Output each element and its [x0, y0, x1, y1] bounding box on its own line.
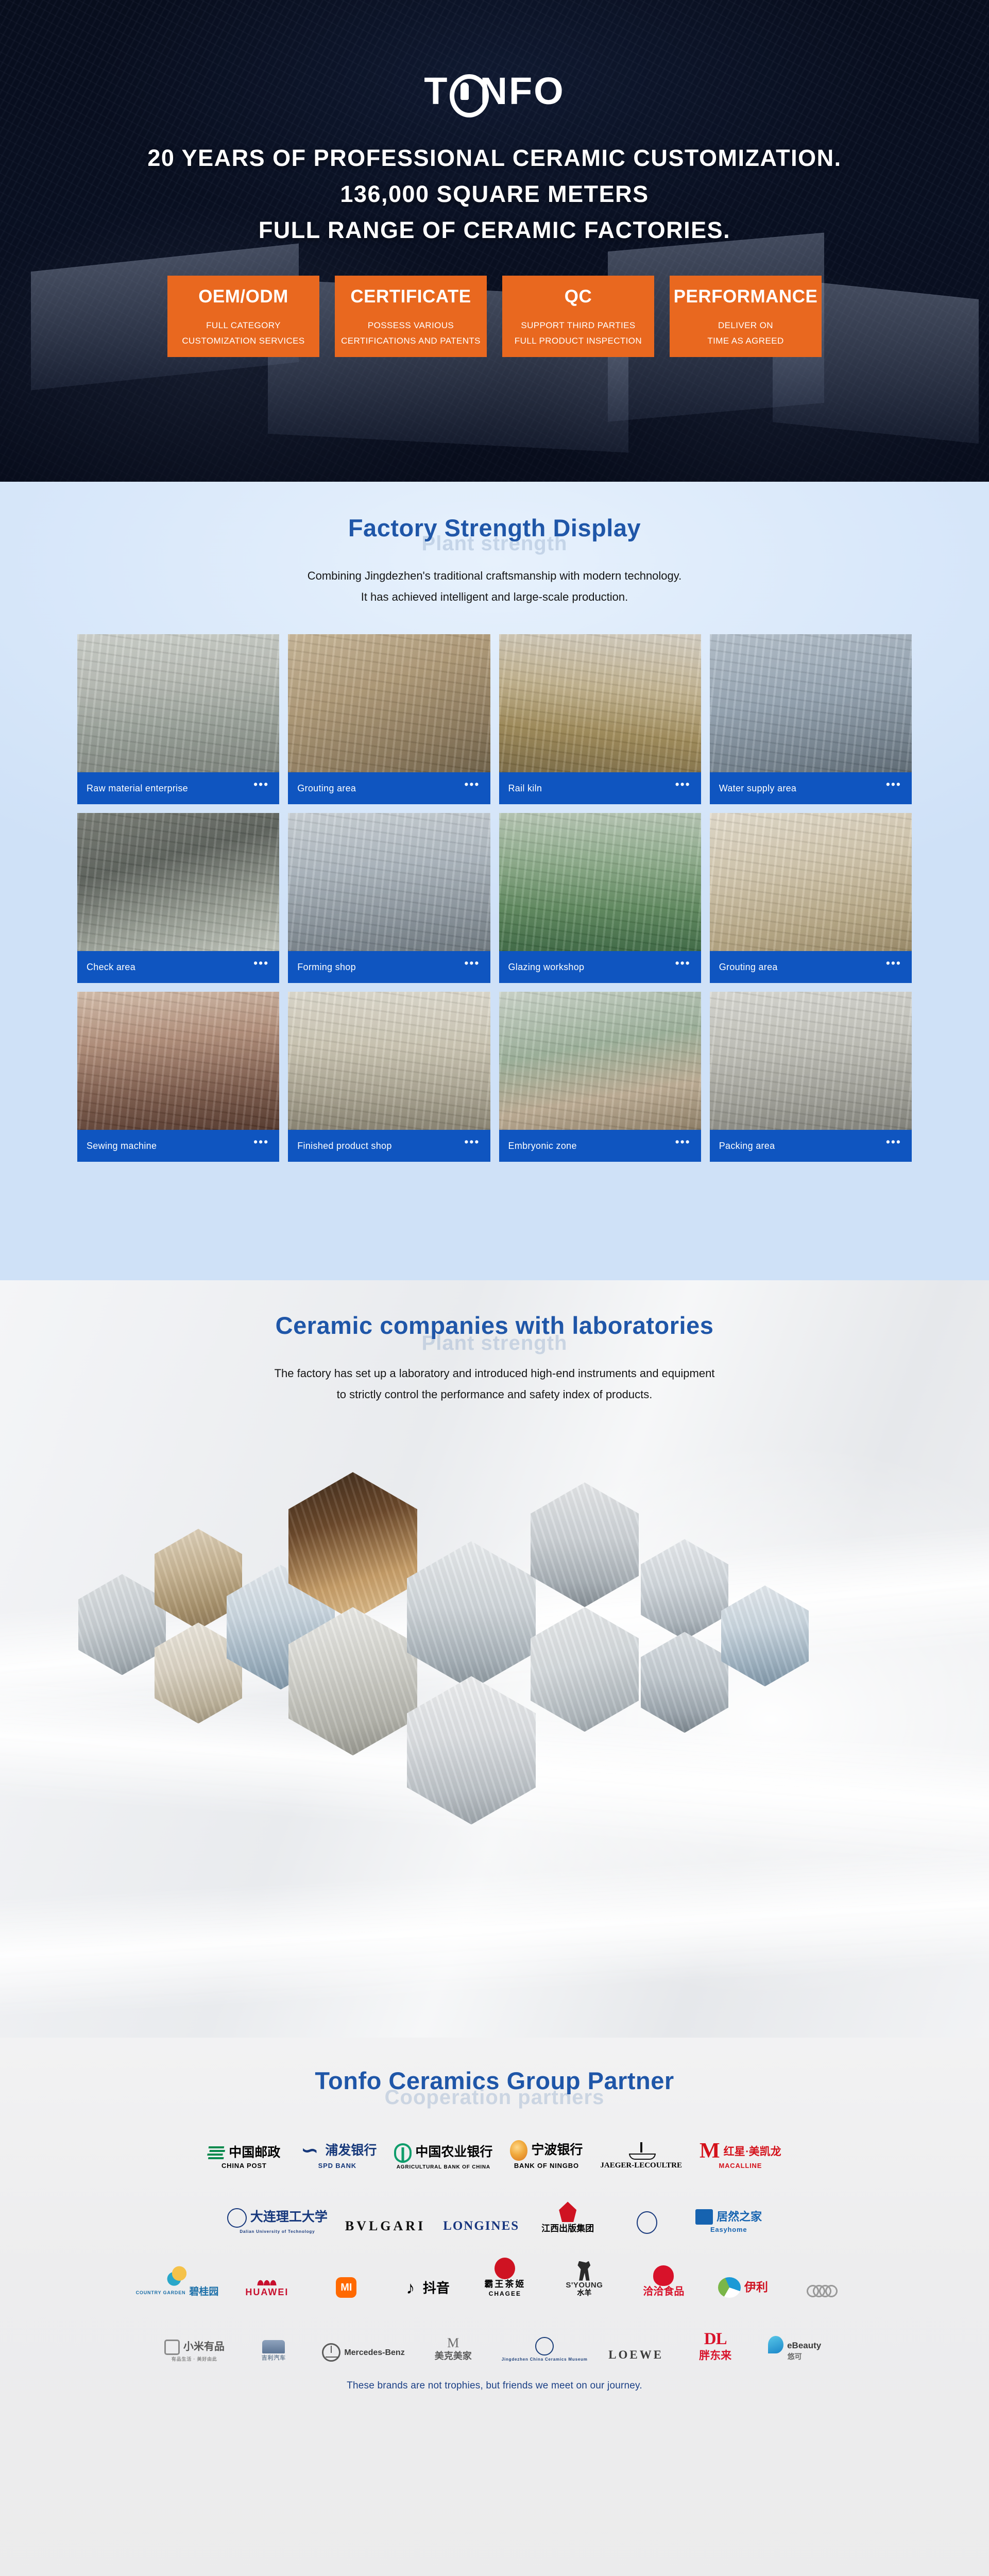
xiaomi-icon: MI	[336, 2277, 356, 2298]
partner-name-en: Dalian University of Technology	[240, 2229, 315, 2234]
factory-tile-photo	[77, 634, 279, 772]
lab-section-header: Plant strength Ceramic companies with la…	[0, 1280, 989, 1340]
feature-card-sub-1: SUPPORT THIRD PARTIES	[502, 318, 654, 333]
huawei-icon	[255, 2268, 278, 2285]
partner-name-en: 有品生活 · 美好由此	[172, 2357, 217, 2362]
lab-hex-photo[interactable]	[407, 1676, 536, 1824]
partner-logo-mercedes-benz[interactable]: Mercedes-Benz	[322, 2343, 404, 2362]
partner-name-en: COUNTRY GARDEN	[136, 2290, 186, 2295]
factory-tile-caption: Finished product shop	[297, 1141, 391, 1151]
factory-section-title: Factory Strength Display	[0, 482, 989, 542]
partner-logo-row: 大连理工大学 Dalian University of Technology B…	[82, 2179, 907, 2234]
partner-name-cn: 悠可	[788, 2353, 802, 2362]
factory-desc-line-2: It has achieved intelligent and large-sc…	[0, 587, 989, 608]
brand-logo-text-right: NFO	[480, 72, 565, 110]
ellipsis-icon[interactable]: •••	[253, 778, 269, 790]
xiaomi-mi-text: MI	[340, 2282, 352, 2294]
factory-tile-photo	[710, 992, 912, 1130]
partner-logo-chagee[interactable]: 霸王茶姬 CHAGEE	[474, 2258, 536, 2298]
factory-tile-caption-bar: Packing area •••	[710, 1130, 912, 1162]
lab-section-title: Ceramic companies with laboratories	[0, 1280, 989, 1340]
spd-bank-icon: ∽	[298, 2141, 321, 2161]
feature-card-sub-2: FULL PRODUCT INSPECTION	[502, 333, 654, 349]
dlut-icon	[227, 2208, 247, 2228]
partner-logo-longines[interactable]: LONGINES	[443, 2219, 519, 2234]
factory-tile-caption: Grouting area	[297, 783, 356, 794]
factory-tile-photo	[288, 813, 490, 951]
pangdonglai-icon: DL	[704, 2330, 727, 2349]
partner-name-cn: 居然之家	[717, 2210, 762, 2223]
factory-tile[interactable]: Forming shop •••	[288, 813, 490, 983]
factory-tile-caption-bar: Finished product shop •••	[288, 1130, 490, 1162]
lab-hex-photo[interactable]	[721, 1585, 809, 1686]
lab-hex-photo[interactable]	[641, 1632, 728, 1733]
factory-tile-caption: Embryonic zone	[508, 1141, 577, 1151]
partner-name-cn: 红星·美凯龙	[724, 2145, 781, 2158]
feature-card-sub-1: POSSESS VARIOUS	[335, 318, 487, 333]
silk-decoration	[0, 1844, 989, 2020]
partner-name-cn: 抖音	[423, 2281, 450, 2296]
factory-tile-photo	[499, 634, 701, 772]
factory-tile-caption-bar: Rail kiln •••	[499, 772, 701, 804]
university-seal-icon	[637, 2211, 657, 2234]
ellipsis-icon[interactable]: •••	[464, 1136, 480, 1148]
factory-tile-caption: Packing area	[719, 1141, 775, 1151]
partner-logo-university-seal[interactable]	[616, 2211, 678, 2234]
partner-name-en: AGRICULTURAL BANK OF CHINA	[397, 2164, 490, 2171]
qiaqia-icon	[653, 2265, 674, 2286]
partner-name-cn: 浦发银行	[325, 2144, 377, 2159]
country-garden-icon	[167, 2265, 187, 2286]
factory-tile-caption: Check area	[87, 962, 135, 973]
ellipsis-icon[interactable]: •••	[675, 1136, 691, 1148]
partner-name-en: BVLGARI	[345, 2218, 425, 2234]
partner-logo-yili[interactable]: 伊利	[712, 2277, 774, 2298]
factory-tile-caption: Water supply area	[719, 783, 797, 794]
factory-tile-caption: Sewing machine	[87, 1141, 157, 1151]
lab-hexagon-gallery	[0, 1410, 989, 1822]
mercedes-benz-icon	[322, 2343, 340, 2362]
partner-name-en: CHAGEE	[489, 2291, 521, 2298]
partner-name-cn: 水羊	[577, 2290, 591, 2298]
lab-hex-photo[interactable]	[531, 1482, 639, 1607]
partner-logo-xiaomi-youpin[interactable]: 小米有品 有品生活 · 美好由此	[163, 2340, 225, 2362]
feature-card-sub-2: CUSTOMIZATION SERVICES	[167, 333, 319, 349]
partner-logo-bank-of-ningbo[interactable]: 宁波银行 BANK OF NINGBO	[510, 2140, 583, 2170]
partner-logo-loewe[interactable]: LOEWE	[605, 2348, 667, 2362]
lab-hex-photo[interactable]	[641, 1539, 728, 1640]
macalline-icon: M	[700, 2142, 720, 2161]
partners-section-header: Cooperation partners Tonfo Ceramics Grou…	[0, 2038, 989, 2095]
partner-logo-bvlgari[interactable]: BVLGARI	[345, 2218, 425, 2234]
factory-tile-caption: Forming shop	[297, 962, 356, 973]
factory-tile-photo	[710, 813, 912, 951]
factory-tile-caption-bar: Grouting area •••	[710, 951, 912, 983]
hero-banner: T NFO 20 YEARS OF PROFESSIONAL CERAMIC C…	[0, 0, 989, 482]
ellipsis-icon[interactable]: •••	[886, 778, 901, 790]
audi-icon	[806, 2284, 838, 2298]
feature-card-sub-2: TIME AS AGREED	[670, 333, 822, 349]
brand-logo-text-left: T	[424, 72, 449, 110]
factory-tile-caption: Rail kiln	[508, 783, 542, 794]
feature-card-title: OEM/ODM	[167, 286, 319, 308]
factory-tile[interactable]: Packing area •••	[710, 992, 912, 1162]
feature-card-certificate[interactable]: CERTIFICATE POSSESS VARIOUS CERTIFICATIO…	[335, 276, 487, 357]
ellipsis-icon[interactable]: •••	[253, 957, 269, 969]
partner-name-en: LONGINES	[443, 2219, 519, 2234]
partner-logo-easyhome[interactable]: 居然之家 Easyhome	[695, 2209, 762, 2234]
factory-tile[interactable]: Raw material enterprise •••	[77, 634, 279, 804]
partner-logo-row: 中国邮政 CHINA POST ∽ 浦发银行 SPD BANK 中国农业银行 A…	[82, 2115, 907, 2170]
partner-name-cn: 大连理工大学	[250, 2210, 328, 2225]
syoung-icon	[575, 2261, 593, 2281]
factory-tile-caption: Raw material enterprise	[87, 783, 188, 794]
feature-card-title: PERFORMANCE	[670, 286, 822, 308]
hero-feature-cards: OEM/ODM FULL CATEGORY CUSTOMIZATION SERV…	[167, 276, 822, 357]
partner-logo-audi[interactable]	[791, 2284, 853, 2298]
partner-name-cn: 中国农业银行	[415, 2145, 492, 2160]
partner-name-en: BANK OF NINGBO	[514, 2162, 579, 2170]
partner-logo-ceramics-museum[interactable]: Jingdezhen China Ceramics Museum	[502, 2337, 588, 2362]
geely-auto-icon	[262, 2340, 285, 2353]
jiangxi-publishing-icon	[559, 2201, 576, 2222]
factory-section-header: Plant strength Factory Strength Display	[0, 482, 989, 542]
partner-name-cn: 洽洽食品	[643, 2286, 684, 2298]
feature-card-performance[interactable]: PERFORMANCE DELIVER ON TIME AS AGREED	[670, 276, 822, 357]
partner-logo-row: COUNTRY GARDEN 碧桂园 HUAWEI MI 抖音 霸王茶姬 CHA…	[82, 2243, 907, 2298]
partner-logo-jaeger-lecoultre[interactable]: JAEGER-LECOULTRE	[600, 2142, 682, 2170]
tonfo-o-mark-icon	[450, 72, 480, 110]
factory-tile-caption-bar: Embryonic zone •••	[499, 1130, 701, 1162]
partners-footer-note: These brands are not trophies, but frien…	[0, 2380, 989, 2392]
hero-headline-line-2: 136,000 SQUARE METERS	[0, 176, 989, 212]
partner-name-en: Easyhome	[710, 2226, 747, 2234]
partner-name-en: SPD BANK	[318, 2162, 356, 2170]
factory-tile-caption-bar: Grouting area •••	[288, 772, 490, 804]
laboratory-section: Plant strength Ceramic companies with la…	[0, 1280, 989, 2038]
partner-name-cn: 美克美家	[435, 2351, 472, 2362]
partner-name-en: Mercedes-Benz	[344, 2348, 404, 2358]
factory-tile[interactable]: Grouting area •••	[288, 634, 490, 804]
factory-strength-section: Plant strength Factory Strength Display …	[0, 482, 989, 1280]
chagee-icon	[494, 2258, 515, 2279]
lab-hex-photo[interactable]	[531, 1607, 639, 1732]
factory-tile-caption-bar: Raw material enterprise •••	[77, 772, 279, 804]
factory-tile[interactable]: Water supply area •••	[710, 634, 912, 804]
xiaomi-youpin-icon	[164, 2340, 180, 2355]
partner-name-en: MACALLINE	[719, 2162, 762, 2170]
feature-card-title: CERTIFICATE	[335, 286, 487, 308]
partner-logo-dlut[interactable]: 大连理工大学 Dalian University of Technology	[227, 2208, 328, 2234]
partner-name-en: 吉利汽车	[262, 2355, 286, 2362]
factory-tile-grid: Raw material enterprise ••• Grouting are…	[77, 634, 912, 1162]
partner-logo-qiaqia[interactable]: 洽洽食品	[633, 2265, 694, 2298]
partner-logo-syoung[interactable]: S'YOUNG 水羊	[553, 2261, 615, 2298]
china-post-icon	[207, 2145, 227, 2161]
factory-tile-caption-bar: Water supply area •••	[710, 772, 912, 804]
feature-card-qc[interactable]: QC SUPPORT THIRD PARTIES FULL PRODUCT IN…	[502, 276, 654, 357]
partner-name-cn: 小米有品	[183, 2341, 225, 2353]
factory-tile[interactable]: Grouting area •••	[710, 813, 912, 983]
abc-bank-icon	[394, 2143, 412, 2163]
factory-tile-caption: Glazing workshop	[508, 962, 585, 973]
partner-name-en: CHINA POST	[221, 2162, 267, 2170]
ellipsis-icon[interactable]: •••	[886, 957, 901, 969]
factory-tile-photo	[288, 634, 490, 772]
factory-tile-photo	[499, 992, 701, 1130]
brand-logo: T NFO	[424, 72, 565, 110]
partner-logo-douyin[interactable]: 抖音	[395, 2279, 456, 2298]
factory-tile-photo	[499, 813, 701, 951]
factory-tile-caption-bar: Glazing workshop •••	[499, 951, 701, 983]
partner-logo-spd-bank[interactable]: ∽ 浦发银行 SPD BANK	[298, 2141, 377, 2170]
ellipsis-icon[interactable]: •••	[675, 957, 691, 969]
partner-logo-pangdonglai[interactable]: DL 胖东来	[685, 2330, 746, 2362]
factory-tile[interactable]: Sewing machine •••	[77, 992, 279, 1162]
feature-card-sub-1: FULL CATEGORY	[167, 318, 319, 333]
factory-tile[interactable]: Rail kiln •••	[499, 634, 701, 804]
partner-name-cn: 胖东来	[699, 2349, 731, 2362]
partner-logo-xiaomi[interactable]: MI	[315, 2277, 377, 2298]
partner-logo-china-post[interactable]: 中国邮政 CHINA POST	[208, 2145, 280, 2170]
feature-card-oem-odm[interactable]: OEM/ODM FULL CATEGORY CUSTOMIZATION SERV…	[167, 276, 319, 357]
partner-name-cn: 碧桂园	[189, 2286, 218, 2298]
ellipsis-icon[interactable]: •••	[675, 778, 691, 790]
partner-logo-country-garden[interactable]: COUNTRY GARDEN 碧桂园	[136, 2265, 219, 2298]
lab-desc-line-1: The factory has set up a laboratory and …	[0, 1363, 989, 1384]
feature-card-sub-2: CERTIFICATIONS AND PATENTS	[335, 333, 487, 349]
partner-logo-rows: 中国邮政 CHINA POST ∽ 浦发银行 SPD BANK 中国农业银行 A…	[82, 2115, 907, 2362]
partner-name-cn: 伊利	[744, 2281, 768, 2294]
partner-logo-abc-bank[interactable]: 中国农业银行 AGRICULTURAL BANK OF CHINA	[394, 2143, 492, 2171]
factory-tile-photo	[288, 992, 490, 1130]
jaeger-lecoultre-icon	[629, 2142, 654, 2160]
markor-icon: M	[444, 2335, 463, 2351]
partner-name-cn: 中国邮政	[229, 2146, 280, 2161]
lab-hex-photo[interactable]	[407, 1541, 536, 1689]
lab-hex-photo[interactable]	[78, 1574, 166, 1675]
partner-name-en: LOEWE	[608, 2348, 663, 2362]
partner-logo-geely-auto[interactable]: 吉利汽车	[243, 2340, 304, 2362]
factory-tile-caption-bar: Forming shop •••	[288, 951, 490, 983]
factory-section-description: Combining Jingdezhen's traditional craft…	[0, 566, 989, 607]
factory-tile-photo	[77, 813, 279, 951]
factory-desc-line-1: Combining Jingdezhen's traditional craft…	[0, 566, 989, 587]
ellipsis-icon[interactable]: •••	[886, 1136, 901, 1148]
factory-tile[interactable]: Embryonic zone •••	[499, 992, 701, 1162]
partner-name-en: eBeauty	[787, 2341, 821, 2351]
factory-tile-photo	[710, 634, 912, 772]
hero-headline-line-3: FULL RANGE OF CERAMIC FACTORIES.	[0, 212, 989, 248]
partner-logo-macalline[interactable]: M 红星·美凯龙 MACALLINE	[700, 2142, 781, 2170]
easyhome-icon	[695, 2209, 713, 2225]
ellipsis-icon[interactable]: •••	[253, 1136, 269, 1148]
ellipsis-icon[interactable]: •••	[464, 778, 480, 790]
partners-section: Cooperation partners Tonfo Ceramics Grou…	[0, 2038, 989, 2576]
partner-logo-markor[interactable]: M 美克美家	[422, 2335, 484, 2362]
douyin-icon	[402, 2279, 419, 2298]
factory-tile-caption-bar: Check area •••	[77, 951, 279, 983]
partner-name-en: S'YOUNG	[566, 2281, 603, 2290]
factory-tile[interactable]: Check area •••	[77, 813, 279, 983]
partner-name-cn: 宁波银行	[531, 2143, 583, 2158]
ceramics-museum-icon	[535, 2337, 554, 2355]
partner-name-cn: 霸王茶姬	[484, 2279, 525, 2290]
feature-card-sub-1: DELIVER ON	[670, 318, 822, 333]
partner-name-en: JAEGER-LECOULTRE	[600, 2161, 682, 2170]
hero-headline: 20 YEARS OF PROFESSIONAL CERAMIC CUSTOMI…	[0, 140, 989, 248]
partner-name-en: HUAWEI	[245, 2287, 288, 2298]
partner-name-cn: 江西出版集团	[541, 2224, 594, 2234]
factory-tile-photo	[77, 992, 279, 1130]
partner-logo-huawei[interactable]: HUAWEI	[236, 2268, 298, 2298]
yili-icon	[718, 2277, 741, 2298]
hero-headline-line-1: 20 YEARS OF PROFESSIONAL CERAMIC CUSTOMI…	[0, 140, 989, 176]
partner-name-en: Jingdezhen China Ceramics Museum	[502, 2357, 588, 2362]
feature-card-title: QC	[502, 286, 654, 308]
lab-section-description: The factory has set up a laboratory and …	[0, 1363, 989, 1405]
partner-logo-row: 小米有品 有品生活 · 美好由此 吉利汽车 Mercedes-Benz M 美克…	[82, 2307, 907, 2362]
factory-tile-caption-bar: Sewing machine •••	[77, 1130, 279, 1162]
factory-tile-caption: Grouting area	[719, 962, 778, 973]
ellipsis-icon[interactable]: •••	[464, 957, 480, 969]
factory-tile[interactable]: Glazing workshop •••	[499, 813, 701, 983]
partner-logo-jiangxi-publishing[interactable]: 江西出版集团	[537, 2201, 599, 2234]
bank-of-ningbo-icon	[510, 2140, 527, 2161]
lab-desc-line-2: to strictly control the performance and …	[0, 1384, 989, 1405]
factory-tile[interactable]: Finished product shop •••	[288, 992, 490, 1162]
partner-logo-ebeauty[interactable]: eBeauty 悠可	[764, 2336, 826, 2362]
ebeauty-icon	[768, 2336, 783, 2353]
partners-section-title: Tonfo Ceramics Group Partner	[0, 2038, 989, 2095]
